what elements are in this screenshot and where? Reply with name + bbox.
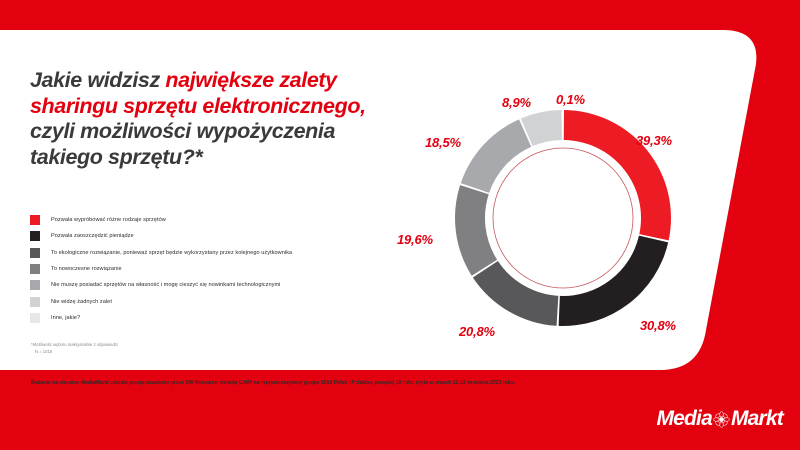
donut-segment[interactable] (473, 261, 558, 326)
mediamarkt-logo: Media Markt (656, 407, 783, 431)
donut-segment[interactable] (564, 110, 671, 240)
value-label-6: 0,1% (556, 92, 585, 107)
legend-item-label: To nowoczesne rozwiązanie (51, 265, 122, 273)
value-label-2: 20,8% (459, 324, 495, 339)
value-label-1: 30,8% (640, 318, 676, 333)
legend-item-label: To ekologiczne rozwiązanie, ponieważ spr… (51, 249, 292, 257)
value-label-4: 18,5% (425, 135, 461, 150)
title-line-3: czyli możliwości wypożyczenia (30, 119, 405, 145)
page-title: Jakie widzisz największe zalety sharingu… (30, 68, 405, 170)
value-label-3: 19,6% (397, 232, 433, 247)
legend-swatch-icon (30, 248, 40, 258)
donut-chart: 39,3% 30,8% 20,8% 19,6% 18,5% 8,9% 0,1% (418, 73, 708, 358)
legend-item[interactable]: To nowoczesne rozwiązanie (30, 261, 390, 277)
legend-item-label: Pozwala wypróbować różne rodzaje sprzętó… (51, 216, 166, 224)
legend-swatch-icon (30, 264, 40, 274)
legend-swatch-icon (30, 215, 40, 225)
legend-item[interactable]: To ekologiczne rozwiązanie, ponieważ spr… (30, 245, 390, 261)
donut-segment[interactable] (461, 119, 531, 192)
title-text-highlight-2: sharingu sprzętu elektronicznego, (30, 94, 366, 118)
mediamarkt-flower-icon (713, 411, 730, 428)
legend-swatch-icon (30, 313, 40, 323)
legend-item[interactable]: Nie widzę żadnych zalet (30, 293, 390, 309)
legend-swatch-icon (30, 297, 40, 307)
legend-item-label: Inne, jakie? (51, 314, 80, 322)
footnote-method-note: *Możliwość wyboru maksymalnie 2 odpowied… (31, 341, 118, 348)
legend-item[interactable]: Nie muszę posiadać sprzętów na własność … (30, 277, 390, 293)
value-label-0: 39,3% (636, 133, 672, 148)
title-text-plain-1: Jakie widzisz (30, 68, 165, 92)
title-text-highlight-1: największe zalety (165, 68, 336, 92)
value-label-5: 8,9% (502, 95, 531, 110)
footnote-sample-size: N = 1015 (31, 348, 118, 355)
title-line-2: sharingu sprzętu elektronicznego, (30, 94, 405, 120)
legend-item[interactable]: Pozwala wypróbować różne rodzaje sprzętó… (30, 212, 390, 228)
legend-swatch-icon (30, 280, 40, 290)
logo-text-media: Media (656, 407, 712, 431)
legend-swatch-icon (30, 231, 40, 241)
legend-item[interactable]: Inne, jakie? (30, 310, 390, 326)
chart-legend: Pozwala wypróbować różne rodzaje sprzętó… (30, 212, 390, 326)
title-line-4: takiego sprzętu?* (30, 145, 405, 171)
flower-icon-svg (713, 411, 730, 428)
inner-outline-circle (493, 148, 633, 288)
legend-item-label: Nie muszę posiadać sprzętów na własność … (51, 281, 280, 289)
legend-item-label: Pozwala zaoszczędzić pieniądze (51, 232, 134, 240)
legend-item-label: Nie widzę żadnych zalet (51, 298, 112, 306)
donut-chart-svg (418, 73, 708, 358)
footnote: *Możliwość wyboru maksymalnie 2 odpowied… (31, 341, 118, 355)
legend-item[interactable]: Pozwala zaoszczędzić pieniądze (30, 228, 390, 244)
logo-text-markt: Markt (731, 407, 783, 431)
donut-segment[interactable] (455, 185, 497, 276)
title-line-1: Jakie widzisz największe zalety (30, 68, 405, 94)
survey-disclaimer: Badanie na zlecenie MediaMarkt zostało p… (31, 379, 515, 387)
donut-segment[interactable] (559, 236, 669, 326)
infographic-canvas: Jakie widzisz największe zalety sharingu… (0, 0, 800, 450)
